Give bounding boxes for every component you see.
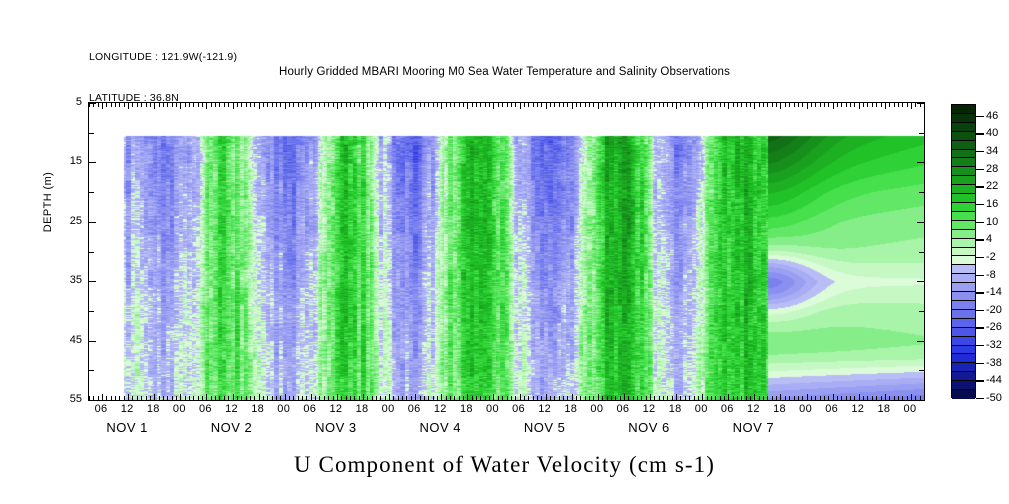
axis-tick: [728, 103, 729, 109]
axis-tick: [881, 396, 882, 400]
colorbar-tick: [976, 327, 984, 328]
axis-tick: [554, 103, 555, 107]
axis-tick: [167, 103, 168, 107]
axis-tick: [863, 103, 864, 107]
colorbar: [951, 104, 976, 398]
axis-tick: [433, 103, 434, 107]
axis-tick: [450, 396, 451, 400]
axis-tick: [472, 396, 473, 400]
axis-tick: [628, 103, 629, 107]
axis-tick: [720, 396, 721, 400]
axis-tick: [259, 394, 260, 400]
axis-tick: [741, 396, 742, 400]
axis-tick: [206, 394, 207, 400]
axis-tick: [507, 396, 508, 400]
axis-tick: [676, 103, 677, 109]
x-axis-hour-label: 00: [486, 403, 499, 415]
axis-tick: [663, 103, 664, 107]
axis-tick: [620, 103, 621, 107]
axis-tick: [828, 103, 829, 107]
axis-tick: [150, 103, 151, 107]
axis-tick: [267, 396, 268, 400]
axis-tick: [228, 396, 229, 400]
axis-tick: [794, 396, 795, 400]
axis-tick: [711, 396, 712, 400]
axis-tick: [646, 103, 647, 107]
axis-tick: [280, 396, 281, 400]
axis-tick: [824, 396, 825, 400]
colorbar-band: [952, 239, 975, 248]
axis-tick: [676, 394, 677, 400]
axis-tick: [398, 396, 399, 400]
colorbar-tick-label: 46: [986, 110, 998, 122]
colorbar-tick-label: -26: [986, 321, 1002, 333]
axis-tick: [463, 396, 464, 400]
axis-tick: [780, 103, 781, 109]
colorbar-tick: [976, 257, 984, 258]
axis-tick: [663, 396, 664, 400]
axis-tick: [924, 396, 925, 400]
axis-tick: [306, 103, 307, 107]
axis-tick: [620, 396, 621, 400]
axis-tick: [459, 103, 460, 107]
axis-tick: [89, 341, 96, 342]
colorbar-tick: [976, 239, 984, 240]
axis-tick: [402, 396, 403, 400]
axis-tick: [233, 394, 234, 400]
x-axis-hour-label: 06: [303, 403, 316, 415]
axis-tick: [885, 103, 886, 109]
axis-tick: [572, 394, 573, 400]
axis-tick: [180, 103, 181, 109]
axis-tick: [867, 396, 868, 400]
x-axis-hour-label: 18: [877, 403, 890, 415]
axis-tick: [167, 396, 168, 400]
x-axis-day-label: NOV 3: [315, 420, 357, 435]
x-axis-day-label: NOV 7: [733, 420, 775, 435]
axis-tick: [811, 396, 812, 400]
axis-tick: [89, 400, 96, 401]
axis-tick: [380, 396, 381, 400]
axis-tick: [363, 394, 364, 400]
colorbar-tick: [976, 133, 984, 134]
axis-tick: [354, 103, 355, 107]
colorbar-band: [952, 158, 975, 167]
x-axis-hour-label: 18: [147, 403, 160, 415]
colorbar-band: [952, 337, 975, 346]
axis-tick: [498, 103, 499, 107]
axis-tick: [824, 103, 825, 107]
axis-tick: [241, 396, 242, 400]
axis-tick: [502, 396, 503, 400]
axis-tick: [789, 103, 790, 107]
axis-tick: [533, 103, 534, 107]
axis-tick: [289, 103, 290, 107]
axis-tick: [154, 103, 155, 109]
axis-tick: [324, 103, 325, 107]
colorbar-tick-label: -32: [986, 339, 1002, 351]
axis-tick: [276, 103, 277, 107]
axis-tick: [894, 396, 895, 400]
axis-tick: [724, 103, 725, 107]
axis-tick: [763, 103, 764, 107]
axis-tick: [776, 396, 777, 400]
axis-tick: [180, 394, 181, 400]
axis-tick: [246, 103, 247, 107]
colorbar-tick: [976, 345, 984, 346]
axis-tick: [902, 103, 903, 107]
axis-tick: [328, 396, 329, 400]
axis-tick: [89, 103, 96, 104]
colorbar-tick: [976, 169, 984, 170]
axis-tick: [919, 252, 924, 253]
axis-tick: [302, 396, 303, 400]
axis-tick: [102, 103, 103, 109]
axis-tick: [898, 103, 899, 107]
axis-tick: [111, 396, 112, 400]
axis-tick: [241, 103, 242, 107]
x-axis-hour-label: 12: [851, 403, 864, 415]
axis-tick: [324, 396, 325, 400]
colorbar-tick: [976, 380, 984, 381]
x-axis-hour-labels: 0612180006121800061218000612180006121800…: [88, 403, 923, 418]
x-axis-hour-label: 06: [408, 403, 421, 415]
axis-tick: [854, 396, 855, 400]
axis-tick: [528, 396, 529, 400]
colorbar-band: [952, 274, 975, 283]
axis-tick: [406, 103, 407, 107]
axis-tick: [511, 103, 512, 107]
axis-tick: [672, 396, 673, 400]
axis-tick: [141, 396, 142, 400]
axis-tick: [354, 396, 355, 400]
axis-tick: [698, 396, 699, 400]
axis-tick: [146, 103, 147, 107]
axis-tick: [172, 396, 173, 400]
axis-tick: [272, 103, 273, 107]
axis-tick: [702, 103, 703, 109]
axis-tick: [385, 103, 386, 107]
axis-tick: [694, 396, 695, 400]
axis-tick: [98, 103, 99, 107]
axis-tick: [559, 103, 560, 107]
axis-tick: [154, 394, 155, 400]
colorbar-band: [952, 167, 975, 176]
colorbar-tick-label: -20: [986, 304, 1002, 316]
velocity-heatmap: [89, 103, 924, 400]
axis-tick: [163, 103, 164, 107]
axis-tick: [202, 103, 203, 107]
axis-tick: [285, 394, 286, 400]
colorbar-tick-label: 16: [986, 198, 998, 210]
axis-tick: [667, 396, 668, 400]
colorbar-band: [952, 390, 975, 399]
axis-tick: [393, 396, 394, 400]
axis-tick: [907, 396, 908, 400]
axis-tick: [759, 103, 760, 107]
axis-tick: [89, 281, 96, 282]
axis-tick: [846, 103, 847, 107]
axis-tick: [498, 396, 499, 400]
axis-tick: [515, 103, 516, 107]
axis-tick: [132, 103, 133, 107]
axis-tick: [641, 103, 642, 107]
axis-tick: [450, 103, 451, 107]
x-axis-hour-label: 12: [434, 403, 447, 415]
axis-tick: [441, 103, 442, 109]
y-axis-tick-label: 35: [70, 274, 82, 286]
axis-tick: [546, 103, 547, 109]
axis-tick: [376, 396, 377, 400]
axis-tick: [433, 396, 434, 400]
colorbar-tick: [976, 116, 984, 117]
axis-tick: [837, 396, 838, 400]
axis-tick: [776, 103, 777, 107]
axis-tick: [807, 103, 808, 109]
axis-tick: [89, 192, 94, 193]
axis-tick: [507, 103, 508, 107]
x-axis-hour-label: 00: [590, 403, 603, 415]
colorbar-band: [952, 354, 975, 363]
x-axis-day-label: NOV 4: [420, 420, 462, 435]
axis-tick: [406, 396, 407, 400]
axis-tick: [480, 103, 481, 107]
axis-tick: [415, 103, 416, 109]
x-axis-hour-label: 18: [251, 403, 264, 415]
x-axis-hour-label: 18: [356, 403, 369, 415]
axis-tick: [119, 103, 120, 107]
axis-tick: [615, 103, 616, 107]
colorbar-tick-label: 40: [986, 127, 998, 139]
axis-tick: [672, 103, 673, 107]
x-axis-hour-label: 06: [617, 403, 630, 415]
y-axis-tick-label: 25: [70, 215, 82, 227]
axis-tick: [911, 103, 912, 109]
colorbar-bands: [952, 105, 975, 397]
x-axis-hour-label: 12: [643, 403, 656, 415]
axis-tick: [659, 396, 660, 400]
axis-tick: [159, 103, 160, 107]
axis-tick: [924, 103, 925, 107]
chart-page: LONGITUDE : 121.9W(-121.9) LATITUDE : 36…: [0, 0, 1009, 504]
colorbar-tick-label: -50: [986, 392, 1002, 404]
axis-tick: [837, 103, 838, 107]
axis-tick: [885, 394, 886, 400]
colorbar-tick-label: -8: [986, 269, 996, 281]
axis-tick: [493, 103, 494, 109]
axis-tick: [898, 396, 899, 400]
axis-tick: [263, 103, 264, 107]
colorbar-tick-label: -2: [986, 251, 996, 263]
axis-tick: [89, 222, 96, 223]
axis-tick: [602, 396, 603, 400]
axis-tick: [446, 103, 447, 107]
colorbar-band: [952, 221, 975, 230]
axis-tick: [289, 396, 290, 400]
axis-tick: [89, 133, 94, 134]
axis-tick: [319, 396, 320, 400]
x-axis-hour-label: 18: [564, 403, 577, 415]
axis-tick: [785, 103, 786, 107]
axis-tick: [398, 103, 399, 107]
axis-tick: [485, 396, 486, 400]
axis-tick: [919, 133, 924, 134]
axis-tick: [550, 396, 551, 400]
axis-tick: [902, 396, 903, 400]
axis-tick: [476, 396, 477, 400]
axis-tick: [872, 396, 873, 400]
axis-tick: [602, 103, 603, 107]
colorbar-band: [952, 230, 975, 239]
axis-tick: [593, 396, 594, 400]
colorbar-band: [952, 346, 975, 355]
x-axis-day-label: NOV 5: [524, 420, 566, 435]
axis-tick: [176, 103, 177, 107]
colorbar-tick-label: 34: [986, 145, 998, 157]
axis-tick: [293, 103, 294, 107]
axis-tick: [124, 103, 125, 107]
axis-tick: [876, 103, 877, 107]
axis-tick: [132, 396, 133, 400]
axis-tick: [889, 103, 890, 107]
x-axis-hour-label: 06: [199, 403, 212, 415]
colorbar-band: [952, 372, 975, 381]
axis-tick: [633, 396, 634, 400]
axis-tick: [563, 103, 564, 107]
axis-tick: [528, 103, 529, 107]
axis-tick: [424, 103, 425, 107]
axis-tick: [537, 103, 538, 107]
colorbar-tick: [976, 275, 984, 276]
axis-tick: [189, 103, 190, 107]
axis-tick: [489, 103, 490, 107]
colorbar-band: [952, 176, 975, 185]
chart-title: Hourly Gridded MBARI Mooring M0 Sea Wate…: [0, 66, 1009, 78]
axis-tick: [524, 396, 525, 400]
colorbar-tick: [976, 222, 984, 223]
axis-tick: [285, 103, 286, 109]
axis-tick: [702, 394, 703, 400]
axis-tick: [128, 103, 129, 109]
x-axis-hour-label: 12: [121, 403, 134, 415]
colorbar-tick: [976, 204, 984, 205]
axis-tick: [424, 396, 425, 400]
axis-tick: [359, 103, 360, 107]
axis-tick: [563, 396, 564, 400]
x-axis-day-label: NOV 2: [211, 420, 253, 435]
axis-tick: [237, 396, 238, 400]
axis-tick: [302, 103, 303, 107]
y-axis-tick-label: 45: [70, 334, 82, 346]
axis-tick: [89, 162, 96, 163]
colorbar-band: [952, 363, 975, 372]
axis-tick: [772, 396, 773, 400]
axis-tick: [780, 394, 781, 400]
x-axis-hour-label: 00: [904, 403, 917, 415]
axis-tick: [459, 396, 460, 400]
axis-tick: [917, 400, 924, 401]
axis-tick: [511, 396, 512, 400]
axis-tick: [163, 396, 164, 400]
axis-tick: [367, 103, 368, 107]
axis-tick: [346, 103, 347, 107]
axis-tick: [476, 103, 477, 107]
axis-tick: [267, 103, 268, 107]
axis-tick: [263, 396, 264, 400]
colorbar-tick: [976, 292, 984, 293]
axis-tick: [111, 103, 112, 107]
axis-tick: [224, 103, 225, 107]
axis-tick: [850, 396, 851, 400]
y-axis-title: DEPTH (m): [42, 142, 54, 262]
axis-tick: [720, 103, 721, 107]
axis-tick: [580, 396, 581, 400]
axis-tick: [420, 396, 421, 400]
axis-tick: [654, 396, 655, 400]
colorbar-band: [952, 319, 975, 328]
colorbar-band: [952, 123, 975, 132]
colorbar-band: [952, 248, 975, 257]
x-axis-hour-label: 12: [329, 403, 342, 415]
axis-tick: [872, 103, 873, 107]
colorbar-tick-label: 10: [986, 216, 998, 228]
axis-tick: [646, 396, 647, 400]
axis-tick: [454, 103, 455, 107]
axis-tick: [841, 103, 842, 107]
axis-tick: [193, 396, 194, 400]
axis-tick: [746, 396, 747, 400]
axis-tick: [224, 396, 225, 400]
axis-tick: [654, 103, 655, 107]
axis-tick: [189, 396, 190, 400]
colorbar-tick-label: -14: [986, 286, 1002, 298]
axis-tick: [250, 103, 251, 107]
axis-tick: [376, 103, 377, 107]
plot-area: [88, 102, 925, 401]
axis-tick: [754, 103, 755, 109]
axis-tick: [894, 103, 895, 107]
axis-tick: [802, 103, 803, 107]
axis-tick: [337, 394, 338, 400]
axis-tick: [537, 396, 538, 400]
axis-tick: [137, 396, 138, 400]
axis-tick: [576, 396, 577, 400]
axis-tick: [550, 103, 551, 107]
axis-tick: [667, 103, 668, 107]
x-axis-hour-label: 00: [799, 403, 812, 415]
axis-tick: [754, 394, 755, 400]
axis-tick: [580, 103, 581, 107]
axis-tick: [428, 103, 429, 107]
axis-tick: [350, 396, 351, 400]
colorbar-band: [952, 381, 975, 390]
axis-tick: [489, 396, 490, 400]
axis-tick: [859, 394, 860, 400]
axis-tick: [611, 396, 612, 400]
x-axis-hour-label: 12: [747, 403, 760, 415]
axis-tick: [859, 103, 860, 109]
colorbar-tick: [976, 398, 984, 399]
axis-tick: [198, 396, 199, 400]
axis-tick: [917, 162, 924, 163]
axis-tick: [567, 103, 568, 107]
x-axis-hour-label: 06: [721, 403, 734, 415]
axis-tick: [707, 103, 708, 107]
axis-tick: [572, 103, 573, 109]
colorbar-band: [952, 132, 975, 141]
axis-tick: [89, 252, 94, 253]
colorbar-band: [952, 328, 975, 337]
